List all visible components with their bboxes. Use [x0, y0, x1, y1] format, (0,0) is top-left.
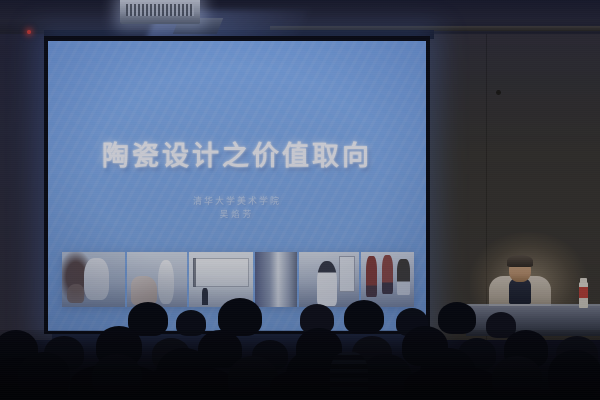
foreground-shadow — [0, 330, 600, 400]
red-indicator-light — [27, 30, 31, 34]
screen-vignette — [48, 41, 426, 331]
wall-fixture-dot — [496, 90, 501, 95]
water-bottle-cap — [580, 278, 587, 283]
water-bottle — [579, 282, 588, 308]
lecture-hall-photo: 陶瓷设计之价值取向 清华大学美术学院 吴焰芳 — [0, 0, 600, 400]
speaker-hair — [507, 255, 533, 267]
projection-screen: 陶瓷设计之价值取向 清华大学美术学院 吴焰芳 — [48, 41, 426, 331]
projector-vent-icon — [126, 4, 194, 16]
ceiling-projector — [120, 0, 200, 24]
